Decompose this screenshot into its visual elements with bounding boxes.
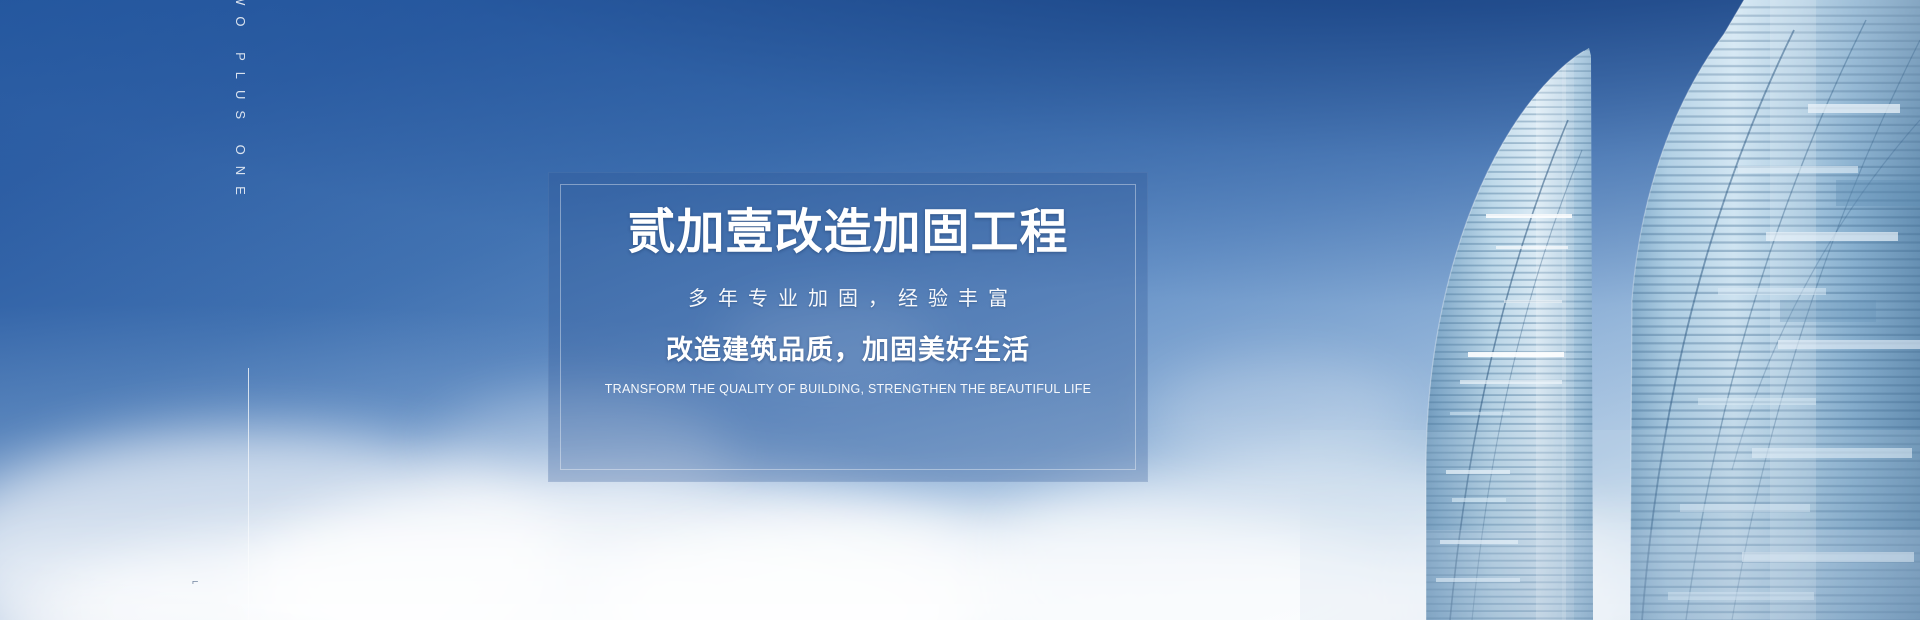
brand-vertical-rule — [248, 368, 249, 620]
hero-text-panel: 贰加壹改造加固工程 多年专业加固，经验丰富 改造建筑品质，加固美好生活 TRAN… — [548, 172, 1148, 482]
subheadline: 多年专业加固，经验丰富 — [548, 286, 1148, 312]
brand-vertical-text: TWO PLUS ONE — [233, 0, 248, 206]
corner-mark-icon: ⌐ — [192, 578, 203, 587]
english-tagline: TRANSFORM THE QUALITY OF BUILDING, STREN… — [548, 381, 1148, 397]
brand-rail: TWO PLUS ONE ⌐ — [228, 0, 268, 620]
skyscrapers-photo — [1300, 0, 1920, 620]
headline: 贰加壹改造加固工程 — [548, 206, 1148, 260]
hero-banner: TWO PLUS ONE ⌐ 贰加壹改造加固工程 多年专业加固，经验丰富 改造建… — [0, 0, 1920, 620]
panel-content: 贰加壹改造加固工程 多年专业加固，经验丰富 改造建筑品质，加固美好生活 TRAN… — [548, 206, 1148, 397]
slogan: 改造建筑品质，加固美好生活 — [548, 334, 1148, 368]
skyscraper-illustration — [1300, 0, 1920, 620]
